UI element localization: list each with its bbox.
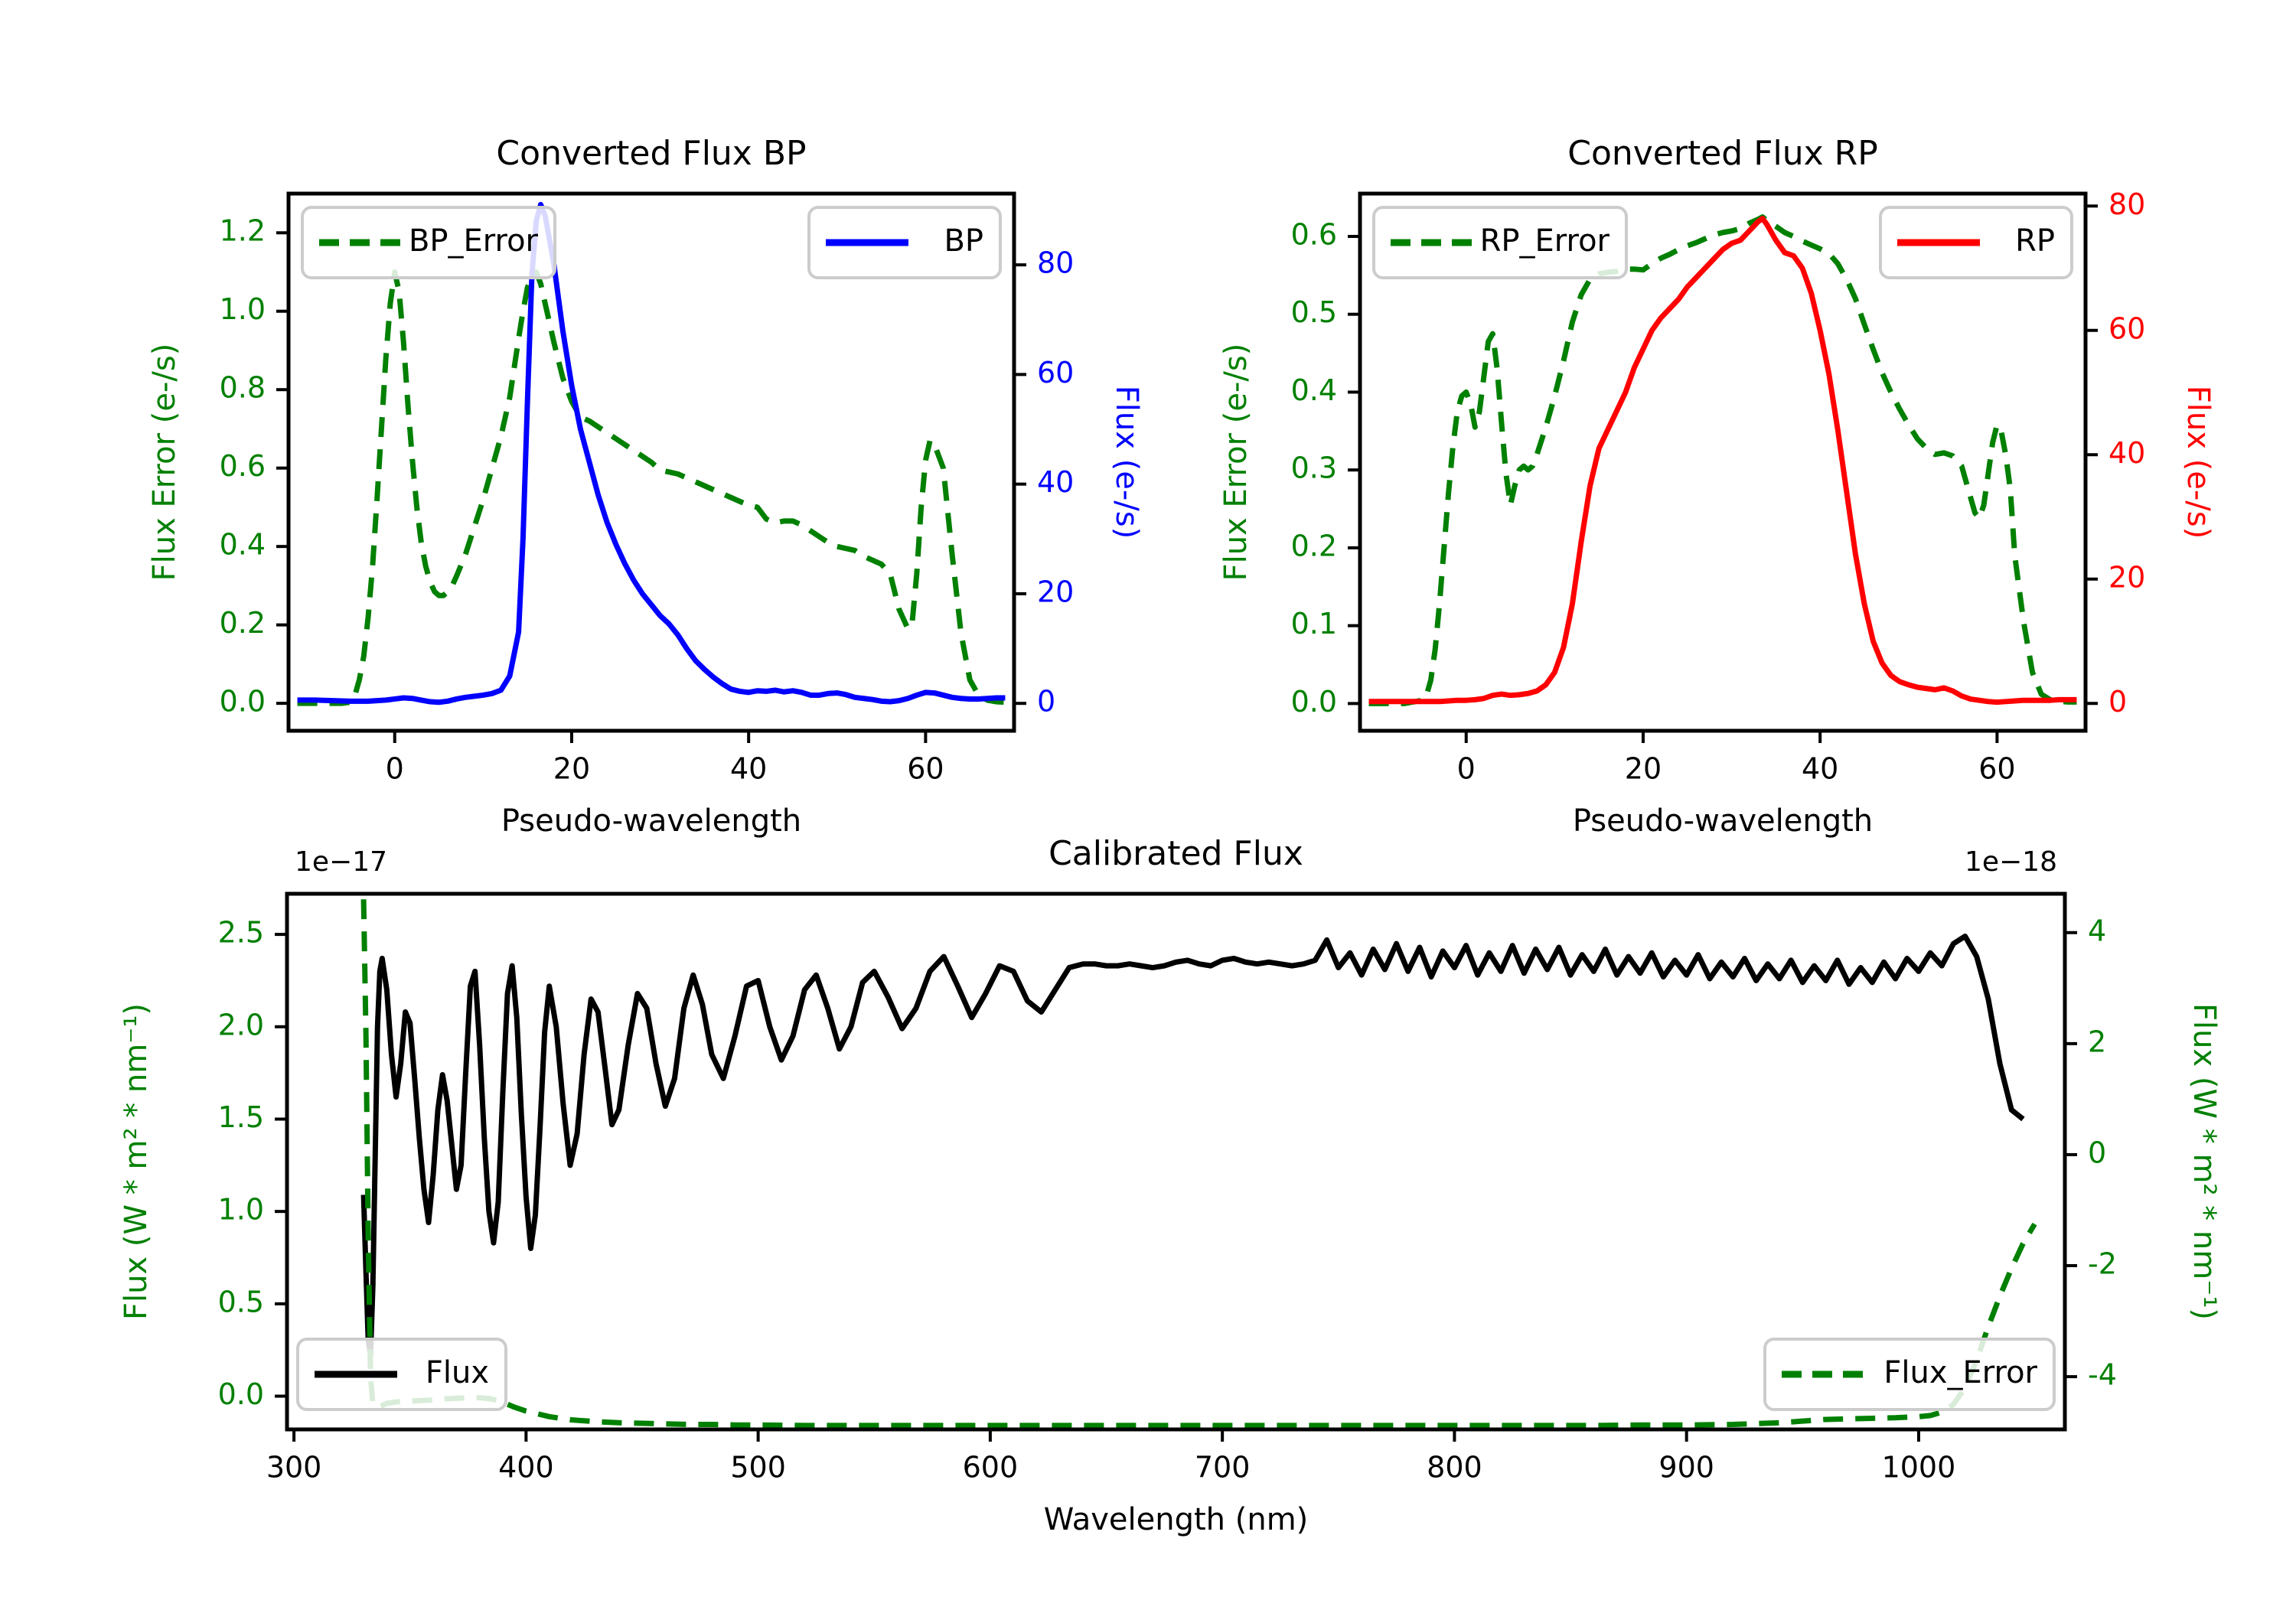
- right-tick-label: -2: [2088, 1247, 2117, 1281]
- right-tick-label: 0: [2108, 685, 2127, 719]
- right-tick-label: 60: [2108, 311, 2145, 345]
- x-tick-label: 500: [730, 1451, 786, 1485]
- right-offset-text: 1e−18: [1965, 846, 2057, 878]
- legend-flux[interactable]: Flux: [298, 1339, 506, 1410]
- left-tick-label: 2.5: [218, 916, 264, 950]
- right-tick-label: -4: [2088, 1358, 2117, 1392]
- left-tick-label: 0.0: [1291, 685, 1337, 719]
- calibrated-panel: 0.00.51.01.52.02.5-4-2024300400500600700…: [119, 834, 2222, 1537]
- left-tick-label: 1.2: [220, 214, 266, 248]
- panel-title: Converted Flux BP: [496, 134, 806, 173]
- right-y-axis-label: Flux (W * m² * nm⁻¹): [2187, 1003, 2222, 1320]
- x-tick-label: 1000: [1882, 1451, 1956, 1485]
- legend-error[interactable]: BP_Error: [302, 207, 555, 278]
- right-axis: -4-2024: [2065, 914, 2117, 1391]
- left-tick-label: 0.5: [218, 1285, 264, 1318]
- x-axis: 0204060: [386, 731, 944, 786]
- left-y-axis-label: Flux Error (e-/s): [147, 344, 182, 582]
- legend-flux[interactable]: BP: [809, 207, 1000, 278]
- legend-label: RP: [2015, 223, 2055, 259]
- left-tick-label: 0.2: [220, 606, 266, 640]
- x-tick-label: 60: [907, 752, 944, 786]
- right-tick-label: 0: [1037, 685, 1055, 719]
- x-tick-label: 20: [1625, 752, 1662, 786]
- x-tick-label: 900: [1658, 1451, 1714, 1485]
- right-tick-label: 2: [2088, 1025, 2106, 1058]
- x-tick-label: 60: [1978, 752, 2015, 786]
- left-y-axis-label: Flux Error (e-/s): [1218, 344, 1254, 582]
- x-tick-label: 40: [1802, 752, 1838, 786]
- x-tick-label: 400: [498, 1451, 554, 1485]
- legend-flux[interactable]: RP: [1880, 207, 2072, 278]
- right-y-axis-label: Flux (e-/s): [1109, 386, 1144, 539]
- left-tick-label: 0.2: [1291, 529, 1337, 562]
- legend-flux-error[interactable]: Flux_Error: [1765, 1339, 2054, 1410]
- left-tick-label: 0.5: [1291, 295, 1337, 329]
- left-y-axis-label: Flux (W * m² * nm⁻¹): [119, 1003, 154, 1320]
- rp-panel: 0.00.10.20.30.40.50.60204060800204060Con…: [1218, 134, 2216, 839]
- matplotlib-figure: 0.00.20.40.60.81.01.20204060800204060Con…: [0, 0, 2296, 1607]
- left-tick-label: 1.0: [220, 292, 266, 326]
- x-tick-label: 600: [963, 1451, 1019, 1485]
- legend-label: Flux_Error: [1883, 1355, 2037, 1390]
- x-tick-label: 700: [1195, 1451, 1251, 1485]
- figure-canvas: 0.00.20.40.60.81.01.20204060800204060Con…: [0, 0, 2296, 1607]
- x-axis: 0204060: [1457, 731, 2016, 786]
- x-tick-label: 0: [1457, 752, 1476, 786]
- right-tick-label: 40: [2108, 436, 2145, 470]
- left-tick-label: 0.4: [220, 528, 266, 562]
- left-tick-label: 0.8: [220, 371, 266, 405]
- right-tick-label: 40: [1037, 465, 1074, 499]
- panel-title: Converted Flux RP: [1567, 134, 1878, 173]
- x-tick-label: 300: [266, 1451, 322, 1485]
- left-axis: 0.00.20.40.60.81.01.2: [220, 214, 289, 719]
- x-tick-label: 40: [730, 752, 767, 786]
- x-tick-label: 800: [1427, 1451, 1482, 1485]
- legend-label: Flux: [426, 1355, 489, 1390]
- right-axis: 020406080: [1014, 246, 1074, 719]
- legend-error[interactable]: RP_Error: [1374, 207, 1626, 278]
- legend-label: RP_Error: [1480, 223, 1610, 259]
- left-axis: 0.00.10.20.30.40.50.6: [1291, 217, 1360, 718]
- left-tick-label: 1.0: [218, 1193, 264, 1227]
- right-tick-label: 4: [2088, 914, 2106, 947]
- right-axis: 020406080: [2086, 187, 2145, 719]
- right-tick-label: 80: [2108, 187, 2145, 221]
- left-tick-label: 0.0: [220, 685, 266, 719]
- left-tick-label: 0.3: [1291, 451, 1337, 485]
- x-axis: 3004005006007008009001000: [266, 1429, 1955, 1485]
- right-tick-label: 0: [2088, 1136, 2106, 1169]
- legend-label: BP: [944, 223, 983, 259]
- x-tick-label: 20: [553, 752, 590, 786]
- left-tick-label: 0.4: [1291, 373, 1337, 407]
- left-tick-label: 1.5: [218, 1100, 264, 1134]
- right-y-axis-label: Flux (e-/s): [2180, 386, 2216, 539]
- left-tick-label: 0.0: [218, 1377, 264, 1411]
- left-tick-label: 2.0: [218, 1008, 264, 1041]
- left-tick-label: 0.6: [220, 449, 266, 483]
- left-tick-label: 0.6: [1291, 217, 1337, 251]
- left-offset-text: 1e−17: [295, 846, 387, 878]
- left-axis: 0.00.51.01.52.02.5: [218, 916, 287, 1411]
- x-axis-label: Wavelength (nm): [1044, 1502, 1309, 1537]
- x-axis-label: Pseudo-wavelength: [1573, 803, 1873, 839]
- legend-label: BP_Error: [409, 223, 539, 259]
- x-axis-label: Pseudo-wavelength: [501, 803, 801, 839]
- right-tick-label: 80: [1037, 246, 1074, 280]
- right-tick-label: 20: [1037, 575, 1074, 608]
- left-tick-label: 0.1: [1291, 607, 1337, 640]
- right-tick-label: 60: [1037, 356, 1074, 389]
- bp-panel: 0.00.20.40.60.81.01.20204060800204060Con…: [147, 134, 1144, 839]
- panel-title: Calibrated Flux: [1049, 834, 1303, 873]
- right-tick-label: 20: [2108, 560, 2145, 594]
- x-tick-label: 0: [386, 752, 404, 786]
